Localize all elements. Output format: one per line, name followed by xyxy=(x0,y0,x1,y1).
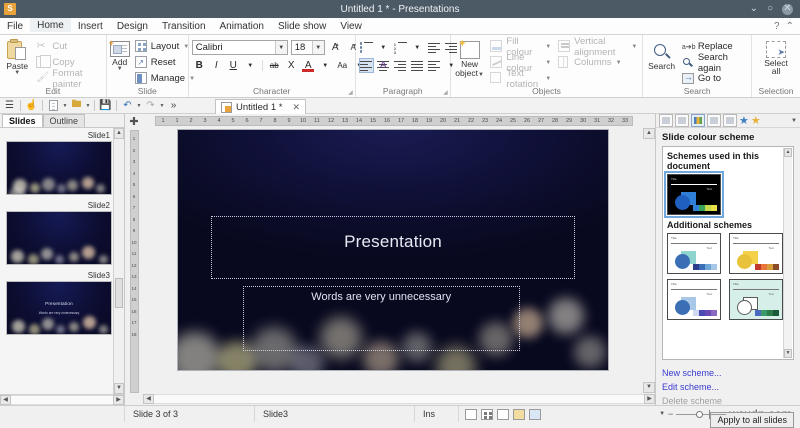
ruler-tick: 12 xyxy=(131,260,136,272)
help-icon[interactable]: ? xyxy=(774,21,780,32)
scroll-down-icon[interactable]: ▼ xyxy=(114,383,124,394)
ruler-tick: 28 xyxy=(548,118,562,124)
delete-scheme-link: Delete scheme xyxy=(662,394,800,408)
search-commands: a➔b Replace Search again Go to xyxy=(680,37,748,86)
save-icon[interactable]: 💾 xyxy=(98,99,113,113)
select-all-icon xyxy=(766,41,786,58)
ruler-tick: 24 xyxy=(492,118,506,124)
add-slide-button[interactable]: + Add ▼ xyxy=(110,37,130,72)
group-label-paragraph: Paragraph xyxy=(359,86,447,97)
ribbon-group-edit: Paste ▼ Cut Copy Format painter xyxy=(0,35,107,97)
vertical-alignment-button[interactable]: Vertical alignment ▼ xyxy=(556,39,639,54)
add-slide-icon: + xyxy=(110,41,130,57)
scheme-links: New scheme... Edit scheme... Delete sche… xyxy=(656,360,800,408)
transitions-icon[interactable] xyxy=(723,114,737,127)
collapse-ribbon-icon[interactable]: ⌃ xyxy=(786,21,794,32)
scheme-swatch-mint[interactable]: Title Text xyxy=(729,279,783,320)
scrollbar-thumb[interactable] xyxy=(115,278,123,308)
align-right-button[interactable] xyxy=(393,58,408,73)
new-scheme-link[interactable]: New scheme... xyxy=(662,366,800,380)
slide-canvas[interactable]: Presentation Words are very unnecessary xyxy=(143,128,643,393)
scheme-swatch-teal[interactable]: Title Text xyxy=(667,233,721,274)
ruler-tick: 15 xyxy=(366,118,380,124)
search-icon xyxy=(653,43,671,61)
ruler-tick: 16 xyxy=(380,118,394,124)
underline-caret-icon[interactable]: ▼ xyxy=(243,58,258,73)
ribbon-tab-bar: File Home Insert Design Transition Anima… xyxy=(0,18,800,35)
ruler-tick: 15 xyxy=(131,294,136,306)
text-rotation-icon xyxy=(490,72,503,85)
font-size-value: 18 xyxy=(295,42,306,53)
scroll-up-icon[interactable]: ▲ xyxy=(114,128,124,139)
canvas-scroll-up-icon[interactable]: ▲ xyxy=(643,128,655,139)
favorite-blue-icon[interactable]: ★ xyxy=(739,114,749,127)
ruler-tick: 5 xyxy=(226,118,240,124)
ruler-tick: 5 xyxy=(133,179,136,191)
menu-icon[interactable]: ☰ xyxy=(2,99,17,113)
ruler-tick: 21 xyxy=(450,118,464,124)
ruler-tick: 3 xyxy=(133,156,136,168)
view-mode-buttons xyxy=(459,409,541,420)
body-placeholder[interactable]: Words are very unnecessary xyxy=(243,286,520,351)
presentation-icon[interactable] xyxy=(529,409,541,420)
window-title: Untitled 1 * - Presentations xyxy=(0,4,800,15)
paste-button[interactable]: Paste ▼ xyxy=(3,37,31,76)
ribbon: Paste ▼ Cut Copy Format painter xyxy=(0,35,800,98)
tab-insert[interactable]: Insert xyxy=(71,18,110,34)
document-tab[interactable]: Untitled 1 * ✕ xyxy=(215,99,306,114)
ruler-tick: 14 xyxy=(131,283,136,295)
canvas-hscrollbar[interactable]: ◀ ▶ xyxy=(125,393,655,405)
tab-design[interactable]: Design xyxy=(110,18,155,34)
redo-icon[interactable]: ↷ xyxy=(143,99,158,113)
canvas-vscrollbar[interactable]: ▲ ▼ xyxy=(643,128,655,393)
font-name-caret-icon[interactable]: ▼ xyxy=(275,41,287,54)
search-button[interactable]: Search xyxy=(646,37,677,71)
status-slide-count: Slide 3 of 3 xyxy=(125,406,255,422)
line-colour-caret-icon[interactable]: ▼ xyxy=(545,60,551,66)
slide-body-text: Words are very unnecessary xyxy=(244,291,519,303)
manage-icon xyxy=(135,72,148,85)
ruler-tick: 18 xyxy=(408,118,422,124)
hscroll-track[interactable] xyxy=(11,395,113,405)
ruler-tick: 9 xyxy=(282,118,296,124)
tab-slide-show[interactable]: Slide show xyxy=(271,18,333,34)
ruler-tick: 19 xyxy=(422,118,436,124)
tab-animation[interactable]: Animation xyxy=(213,18,271,34)
presentation-app-window: S Untitled 1 * - Presentations ⌄ ○ ✕ Fil… xyxy=(0,0,800,422)
font-colour-button[interactable]: A xyxy=(301,58,316,73)
text-rotation-button[interactable]: Text rotation ▼ xyxy=(488,71,553,86)
line-spacing-icon xyxy=(428,60,441,72)
ruler-tick: 3 xyxy=(198,118,212,124)
scheme-list[interactable]: Schemes used in this document Title Text… xyxy=(662,146,794,360)
slide-thumbnail[interactable] xyxy=(6,141,112,195)
ruler-tick: 8 xyxy=(268,118,282,124)
scheme-swatch-blue[interactable]: Title Text xyxy=(667,279,721,320)
document-tab-title: Untitled 1 * xyxy=(236,102,282,113)
scheme-swatch-black[interactable]: Title Text xyxy=(667,174,721,215)
title-bar: S Untitled 1 * - Presentations ⌄ ○ ✕ xyxy=(0,0,800,18)
align-left-button[interactable] xyxy=(359,58,374,73)
ruler-tick: 30 xyxy=(576,118,590,124)
line-colour-icon xyxy=(490,56,503,69)
ruler-tick: 27 xyxy=(534,118,548,124)
ribbon-group-slide: + Add ▼ Layout ▼ ↗ Reset xyxy=(107,35,189,97)
ruler-tick: 26 xyxy=(520,118,534,124)
group-label-slide: Slide xyxy=(110,86,185,97)
normal-view-icon[interactable] xyxy=(465,409,477,420)
thumbnail-subtitle: Words are very unnecessary xyxy=(7,311,111,315)
window-controls: ⌄ ○ ✕ xyxy=(750,4,800,15)
edit-commands: Cut Copy Format painter xyxy=(34,37,102,86)
sidebar-toolbar: ★ ★ ▼ xyxy=(656,114,800,128)
ruler-tick: 7 xyxy=(254,118,268,124)
paintbrush-icon xyxy=(36,72,49,85)
ruler-tick: 13 xyxy=(338,118,352,124)
ruler-row: ✚ 11234567891011121314151617181920212223… xyxy=(125,114,655,128)
ruler-tick: 16 xyxy=(131,306,136,318)
italic-button[interactable]: I xyxy=(209,58,224,73)
ribbon-group-search: Search a➔b Replace Search again Go to xyxy=(643,35,752,97)
title-placeholder[interactable]: Presentation xyxy=(211,216,576,278)
favorite-gold-icon[interactable]: ★ xyxy=(751,114,761,127)
search-again-button[interactable]: Search again xyxy=(680,55,748,70)
open-file-icon[interactable]: 🖿 xyxy=(69,99,84,113)
slide-thumbnail[interactable] xyxy=(6,211,112,265)
reset-icon: ↗ xyxy=(135,56,148,69)
scissors-icon xyxy=(36,40,49,53)
slide-thumbnail[interactable]: Presentation Words are very unnecessary xyxy=(6,281,112,335)
section-additional-schemes: Additional schemes xyxy=(667,220,789,230)
canvas-scroll-right-icon[interactable]: ▶ xyxy=(644,394,655,404)
group-label-objects: Objects xyxy=(454,86,640,97)
bullet-caret-icon[interactable]: ▼ xyxy=(376,40,391,55)
ruler-tick: 22 xyxy=(464,118,478,124)
colour-scheme-icon[interactable] xyxy=(691,114,705,127)
document-icon xyxy=(221,102,232,113)
object-commands-left: Fill colour ▼ Line colour ▼ Text rotatio… xyxy=(488,37,553,86)
ribbon-group-selection: Select all Selection xyxy=(752,35,800,97)
editor-area: ✚ 11234567891011121314151617181920212223… xyxy=(125,114,655,405)
columns-caret-icon[interactable]: ▼ xyxy=(616,60,622,66)
bullet-list-icon xyxy=(360,42,373,54)
apply-row: Apply to all slides xyxy=(656,408,800,428)
vertical-alignment-icon xyxy=(558,40,571,53)
numbering-caret-icon[interactable]: ▼ xyxy=(410,40,425,55)
format-painter-button[interactable]: Format painter xyxy=(34,71,102,86)
ruler-tick: 29 xyxy=(562,118,576,124)
sidebar-more-icon[interactable]: ▼ xyxy=(791,118,797,124)
ruler-tick: 6 xyxy=(133,191,136,203)
list-item[interactable]: Slide2 xyxy=(6,201,112,265)
slide-editing-surface[interactable]: Presentation Words are very unnecessary xyxy=(178,130,608,370)
zoom-slider-knob[interactable] xyxy=(696,411,703,418)
document-tab-close-icon[interactable]: ✕ xyxy=(292,102,300,113)
group-label-character: Character xyxy=(192,86,352,97)
ruler-tick: 31 xyxy=(590,118,604,124)
thumbnail-title: Presentation xyxy=(7,301,111,306)
ruler-tick: 4 xyxy=(133,168,136,180)
workspace: Slides Outline Slide1 xyxy=(0,114,800,405)
tab-view[interactable]: View xyxy=(333,18,369,34)
font-colour-letter: A xyxy=(305,60,312,71)
numbered-list-button[interactable]: 123 xyxy=(393,40,408,55)
slides-panel: Slides Outline Slide1 xyxy=(0,114,125,405)
ruler-tick: 11 xyxy=(310,118,324,124)
scroll-right-icon[interactable]: ▶ xyxy=(113,395,124,405)
layouts-icon[interactable] xyxy=(707,114,721,127)
align-center-icon xyxy=(377,60,390,72)
close-icon[interactable]: ✕ xyxy=(782,4,793,15)
manage-button[interactable]: Manage ▼ xyxy=(133,71,197,86)
new-object-button[interactable]: ✦ New object▼ xyxy=(454,37,486,78)
ruler-tick: 1 xyxy=(156,118,170,124)
new-file-caret-icon[interactable]: ▼ xyxy=(62,103,68,109)
replace-icon: a➔b xyxy=(682,40,695,53)
change-case-button[interactable]: Aa xyxy=(335,58,350,73)
ruler-tick: 13 xyxy=(131,271,136,283)
edit-wrapper: 123456789101112131415161718 xyxy=(125,128,655,393)
notes-view-icon[interactable] xyxy=(513,409,525,420)
ruler-tick: 32 xyxy=(604,118,618,124)
tab-transition[interactable]: Transition xyxy=(155,18,213,34)
ruler-origin-icon[interactable]: ✚ xyxy=(125,114,143,128)
ribbon-group-character: Calibri ▼ 18 ▼ A A B I xyxy=(189,35,356,97)
ruler-tick: 4 xyxy=(212,118,226,124)
line-spacing-button[interactable] xyxy=(427,58,442,73)
ruler-tick: 6 xyxy=(240,118,254,124)
group-label-selection: Selection xyxy=(755,86,797,97)
sidebar-panel: ★ ★ ▼ Slide colour scheme Schemes used i… xyxy=(655,114,800,405)
ribbon-right-controls: ? ⌃ xyxy=(774,18,800,34)
vertical-alignment-caret-icon[interactable]: ▼ xyxy=(631,44,637,50)
scheme-scrollbar[interactable]: ▲ ▼ xyxy=(783,148,792,358)
slide-name: Slide3 xyxy=(6,271,112,281)
go-to-button[interactable]: Go to xyxy=(680,71,748,86)
outline-view-icon[interactable] xyxy=(497,409,509,420)
ruler-tick: 23 xyxy=(478,118,492,124)
ruler-tick: 18 xyxy=(131,329,136,341)
align-right-icon xyxy=(394,60,407,72)
touch-mode-icon[interactable]: ☝ xyxy=(24,99,39,113)
text-rotation-caret-icon[interactable]: ▼ xyxy=(545,76,551,82)
ruler-tick: 20 xyxy=(436,118,450,124)
paste-caret-icon[interactable]: ▼ xyxy=(14,71,20,76)
select-all-button[interactable]: Select all xyxy=(755,37,797,76)
canvas-scroll-left-icon[interactable]: ◀ xyxy=(143,394,154,404)
tab-file[interactable]: File xyxy=(0,18,30,34)
ruler-tick: 25 xyxy=(506,118,520,124)
canvas-hscroll-track[interactable] xyxy=(154,394,644,404)
minimize-icon[interactable]: ⌄ xyxy=(750,4,758,14)
reset-button[interactable]: ↗ Reset xyxy=(133,55,197,70)
vertical-ruler[interactable]: 123456789101112131415161718 xyxy=(125,128,143,393)
decrease-indent-icon xyxy=(428,42,441,54)
copy-icon xyxy=(36,56,49,69)
ruler-tick: 2 xyxy=(184,118,198,124)
object-commands-right: Vertical alignment ▼ Columns ▼ xyxy=(556,37,639,70)
group-label-edit: Edit xyxy=(3,86,103,97)
undo-icon[interactable]: ↶ xyxy=(120,99,135,113)
new-object-caret-icon[interactable]: ▼ xyxy=(478,72,484,78)
slides-panel-scrollbar[interactable]: ▲ ▼ xyxy=(113,128,124,394)
slide-title-text: Presentation xyxy=(212,232,575,252)
ruler-tick: 10 xyxy=(296,118,310,124)
list-item[interactable]: Slide1 xyxy=(6,131,112,195)
status-left-spacer xyxy=(0,406,125,422)
scheme-scroll-up-icon[interactable]: ▲ xyxy=(784,148,792,157)
canvas-scroll-down-icon[interactable]: ▼ xyxy=(643,382,655,393)
slide-commands: Layout ▼ ↗ Reset Manage ▼ xyxy=(133,37,197,86)
grow-font-button[interactable]: A xyxy=(328,40,343,55)
group-label-search: Search xyxy=(646,86,748,97)
toolbar-overflow-icon[interactable]: » xyxy=(166,99,181,113)
slides-panel-tabs: Slides Outline xyxy=(0,114,124,127)
new-object-icon: ✦ xyxy=(460,41,480,59)
status-insert-mode[interactable]: Ins xyxy=(415,406,459,422)
align-left-icon xyxy=(360,60,373,72)
search-again-icon xyxy=(682,56,695,69)
ruler-tick: 7 xyxy=(133,202,136,214)
numbered-list-icon: 123 xyxy=(394,42,407,54)
bold-button[interactable]: B xyxy=(192,58,207,73)
horizontal-ruler[interactable]: 1123456789101112131415161718192021222324… xyxy=(155,116,633,126)
layout-icon xyxy=(135,40,148,53)
ruler-tick: 10 xyxy=(131,237,136,249)
properties-icon[interactable] xyxy=(659,114,673,127)
tab-outline[interactable]: Outline xyxy=(43,114,86,127)
paste-icon xyxy=(6,39,28,61)
ruler-tick: 17 xyxy=(131,317,136,329)
character-dialog-launcher-icon[interactable]: ◢ xyxy=(348,89,353,96)
ruler-tick: 12 xyxy=(324,118,338,124)
align-center-button[interactable] xyxy=(376,58,391,73)
go-to-icon xyxy=(682,72,695,85)
font-name-combo[interactable]: Calibri ▼ xyxy=(192,40,288,55)
font-name-value: Calibri xyxy=(196,42,223,53)
ruler-tick: 1 xyxy=(133,133,136,145)
slide-thumbnail-list[interactable]: Slide1 Slide2 xyxy=(0,127,124,394)
open-file-caret-icon[interactable]: ▼ xyxy=(85,103,91,109)
ruler-tick: 1 xyxy=(170,118,184,124)
scheme-swatch-gold[interactable]: Title Text xyxy=(729,233,783,274)
tab-slides[interactable]: Slides xyxy=(2,114,43,127)
underline-button[interactable]: U xyxy=(226,58,241,73)
ribbon-group-paragraph: ▼ 123 ▼ xyxy=(356,35,451,97)
ruler-tick: 33 xyxy=(618,118,632,124)
new-file-icon[interactable] xyxy=(46,99,61,113)
zoom-slider[interactable] xyxy=(676,414,726,415)
scroll-left-icon[interactable]: ◀ xyxy=(0,395,11,405)
ruler-tick: 14 xyxy=(352,118,366,124)
font-size-caret-icon[interactable]: ▼ xyxy=(312,41,324,54)
redo-caret-icon[interactable]: ▼ xyxy=(159,103,165,109)
columns-icon xyxy=(558,56,571,69)
ruler-tick: 8 xyxy=(133,214,136,226)
decrease-indent-button[interactable] xyxy=(427,40,442,55)
bullet-list-button[interactable] xyxy=(359,40,374,55)
fill-colour-icon xyxy=(490,40,503,53)
zoom-slider-midpoint xyxy=(709,410,710,419)
section-schemes-used: Schemes used in this document xyxy=(667,151,789,171)
strikethrough-button[interactable]: ab xyxy=(267,58,282,73)
paragraph-dialog-launcher-icon[interactable]: ◢ xyxy=(443,89,448,96)
slides-panel-hscrollbar[interactable]: ◀ ▶ xyxy=(0,394,124,405)
ruler-tick: 9 xyxy=(133,225,136,237)
font-colour-caret-icon[interactable]: ▼ xyxy=(318,58,333,73)
fill-colour-caret-icon[interactable]: ▼ xyxy=(545,44,551,50)
slide-name: Slide1 xyxy=(6,131,112,141)
clear-formatting-button[interactable]: X xyxy=(284,58,299,73)
ruler-tick: 2 xyxy=(133,145,136,157)
tab-home[interactable]: Home xyxy=(30,18,71,34)
sidebar-heading: Slide colour scheme xyxy=(656,128,800,146)
font-size-combo[interactable]: 18 ▼ xyxy=(291,40,325,55)
quick-access-toolbar: ☰ ☝ ▼ 🖿 ▼ 💾 ↶ ▼ ↷ ▼ » Untitled 1 * ✕ xyxy=(0,98,800,114)
scheme-scroll-down-icon[interactable]: ▼ xyxy=(784,349,792,358)
edit-scheme-link[interactable]: Edit scheme... xyxy=(662,380,800,394)
columns-button[interactable]: Columns ▼ xyxy=(556,55,639,70)
cut-button[interactable]: Cut xyxy=(34,39,102,54)
ribbon-group-objects: ✦ New object▼ Fill colour ▼ Line xyxy=(451,35,644,97)
maximize-icon[interactable]: ○ xyxy=(767,4,773,14)
ruler-tick: 11 xyxy=(132,248,137,260)
list-item[interactable]: Slide3 Presentation Words are very unnec… xyxy=(6,271,112,335)
undo-caret-icon[interactable]: ▼ xyxy=(136,103,142,109)
styles-icon[interactable] xyxy=(675,114,689,127)
add-caret-icon[interactable]: ▼ xyxy=(117,67,123,72)
slide-sorter-icon[interactable] xyxy=(481,409,493,420)
status-slide-name: Slide3 xyxy=(255,406,415,422)
align-justify-icon xyxy=(411,60,424,72)
layout-button[interactable]: Layout ▼ xyxy=(133,39,197,54)
ruler-tick: 17 xyxy=(394,118,408,124)
slide-name: Slide2 xyxy=(6,201,112,211)
align-justify-button[interactable] xyxy=(410,58,425,73)
